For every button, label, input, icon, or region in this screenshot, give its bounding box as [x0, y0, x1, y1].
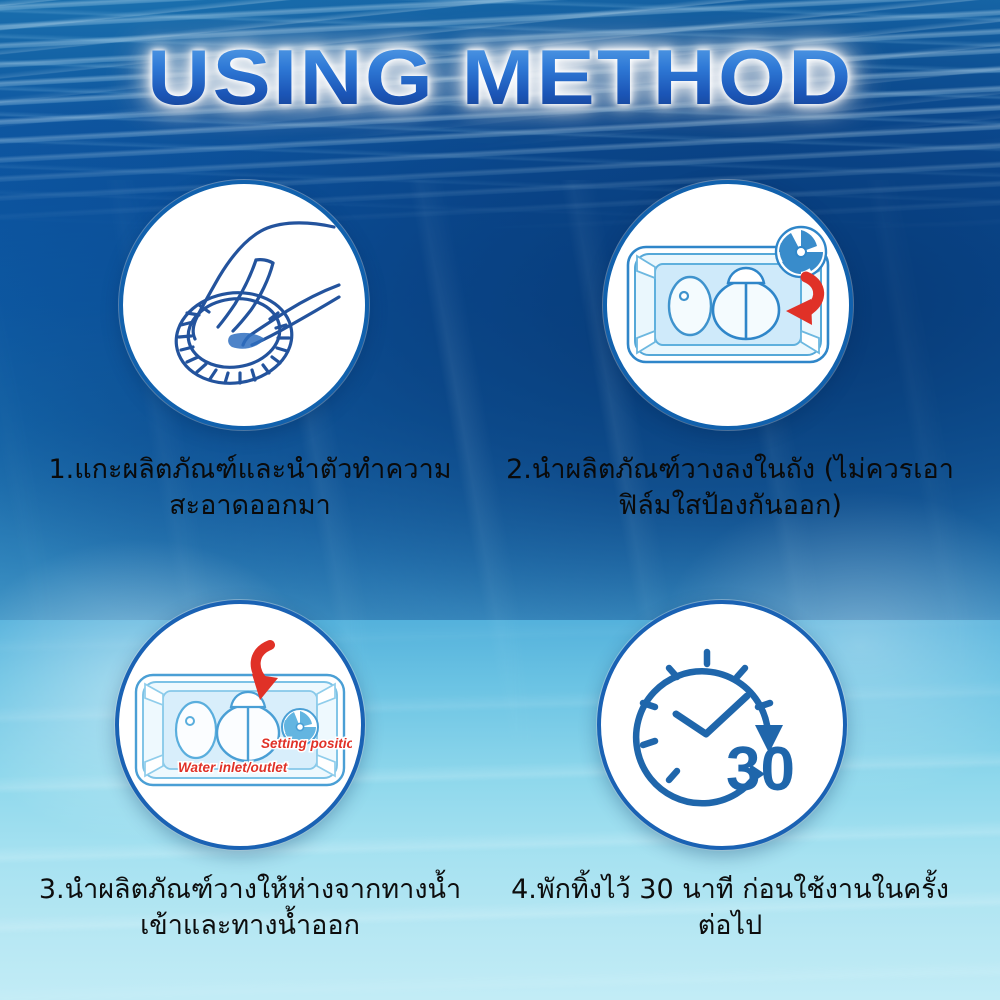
- hand-holding-tablet-icon: [139, 205, 349, 405]
- step-1-caption: 1.แกะผลิตภัณฑ์และนำตัวทำความสะอาดออกมา: [0, 452, 500, 523]
- clock-minutes-value: 30: [726, 735, 795, 804]
- clock-30-minutes-icon: 30: [622, 628, 822, 823]
- toilet-tank-setting-position-icon: Setting position Water inlet/outlet: [128, 630, 352, 820]
- water-inlet-outlet-label: Water inlet/outlet: [178, 760, 288, 775]
- step-4-caption: 4.พักทิ้งไว้ 30 นาที ก่อนใช้งานในครั้งต่…: [480, 872, 980, 943]
- toilet-tank-top-view-icon: [618, 215, 838, 395]
- step-2-caption: 2.นำผลิตภัณฑ์วางลงในถัง (ไม่ควรเอาฟิล์มใ…: [480, 452, 980, 523]
- page-title: USING METHOD: [0, 38, 1000, 116]
- page-title-text: USING METHOD: [147, 38, 853, 116]
- step-4-icon-bubble: 30: [597, 600, 847, 850]
- step-3-caption: 3.นำผลิตภัณฑ์วางให้ห่างจากทางน้ำเข้าและท…: [0, 872, 500, 943]
- step-1-icon-bubble: [119, 180, 369, 430]
- setting-position-label: Setting position: [261, 736, 352, 751]
- steps-grid: 1.แกะผลิตภัณฑ์และนำตัวทำความสะอาดออกมา: [0, 0, 1000, 1000]
- step-3: Setting position Water inlet/outlet 3.นำ…: [0, 600, 500, 943]
- step-2: 2.นำผลิตภัณฑ์วางลงในถัง (ไม่ควรเอาฟิล์มใ…: [480, 180, 980, 523]
- step-1: 1.แกะผลิตภัณฑ์และนำตัวทำความสะอาดออกมา: [0, 180, 500, 523]
- step-4: 30 4.พักทิ้งไว้ 30 นาที ก่อนใช้งานในครั้…: [480, 600, 980, 943]
- impeller-icon: [776, 227, 826, 277]
- tablet-highlight: [228, 333, 265, 349]
- step-3-icon-bubble: Setting position Water inlet/outlet: [115, 600, 365, 850]
- step-2-icon-bubble: [603, 180, 853, 430]
